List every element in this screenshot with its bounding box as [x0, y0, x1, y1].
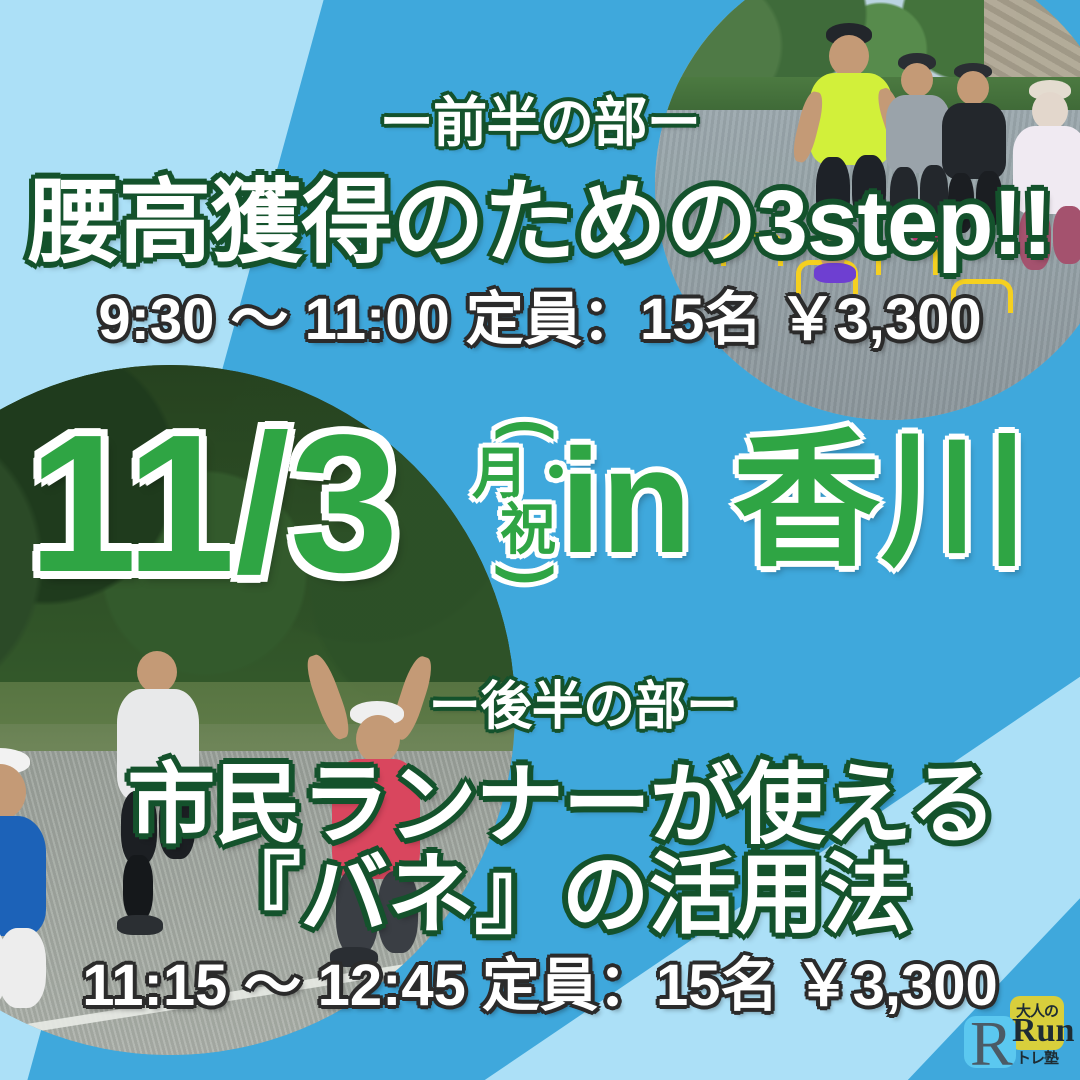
photo-bottom-runner: [0, 696, 72, 1046]
poster-root: ー前半の部ー 腰高獲得のための3step!! 9:30 〜 11:00 定員：1…: [0, 0, 1080, 1080]
logo-bottom-text: トレ塾: [1016, 1047, 1058, 1068]
photo-top-runner: [1073, 53, 1080, 273]
session1-info: 9:30 〜 11:00 定員：15名 ￥3,300: [98, 272, 981, 356]
day-note-open-paren: (: [511, 419, 545, 440]
session1-label: ー前半の部ー: [380, 78, 701, 157]
event-date: 11/3: [28, 406, 399, 602]
session2-label: ー後半の部ー: [429, 664, 738, 739]
event-place: in 香川: [560, 428, 1029, 576]
session1-title: 腰高獲得のための3step!!: [28, 148, 1052, 281]
logo-r-mark: R: [970, 1012, 1013, 1076]
day-note-close-paren: ): [511, 565, 545, 586]
session2-title-line2: 『バネ』の活用法: [213, 824, 910, 951]
logo-main-text: Run: [1012, 1014, 1074, 1048]
session2-info: 11:15 〜 12:45 定員：15名 ￥3,300: [82, 938, 998, 1022]
brand-logo[interactable]: R 大人の Run トレ塾: [962, 994, 1066, 1072]
